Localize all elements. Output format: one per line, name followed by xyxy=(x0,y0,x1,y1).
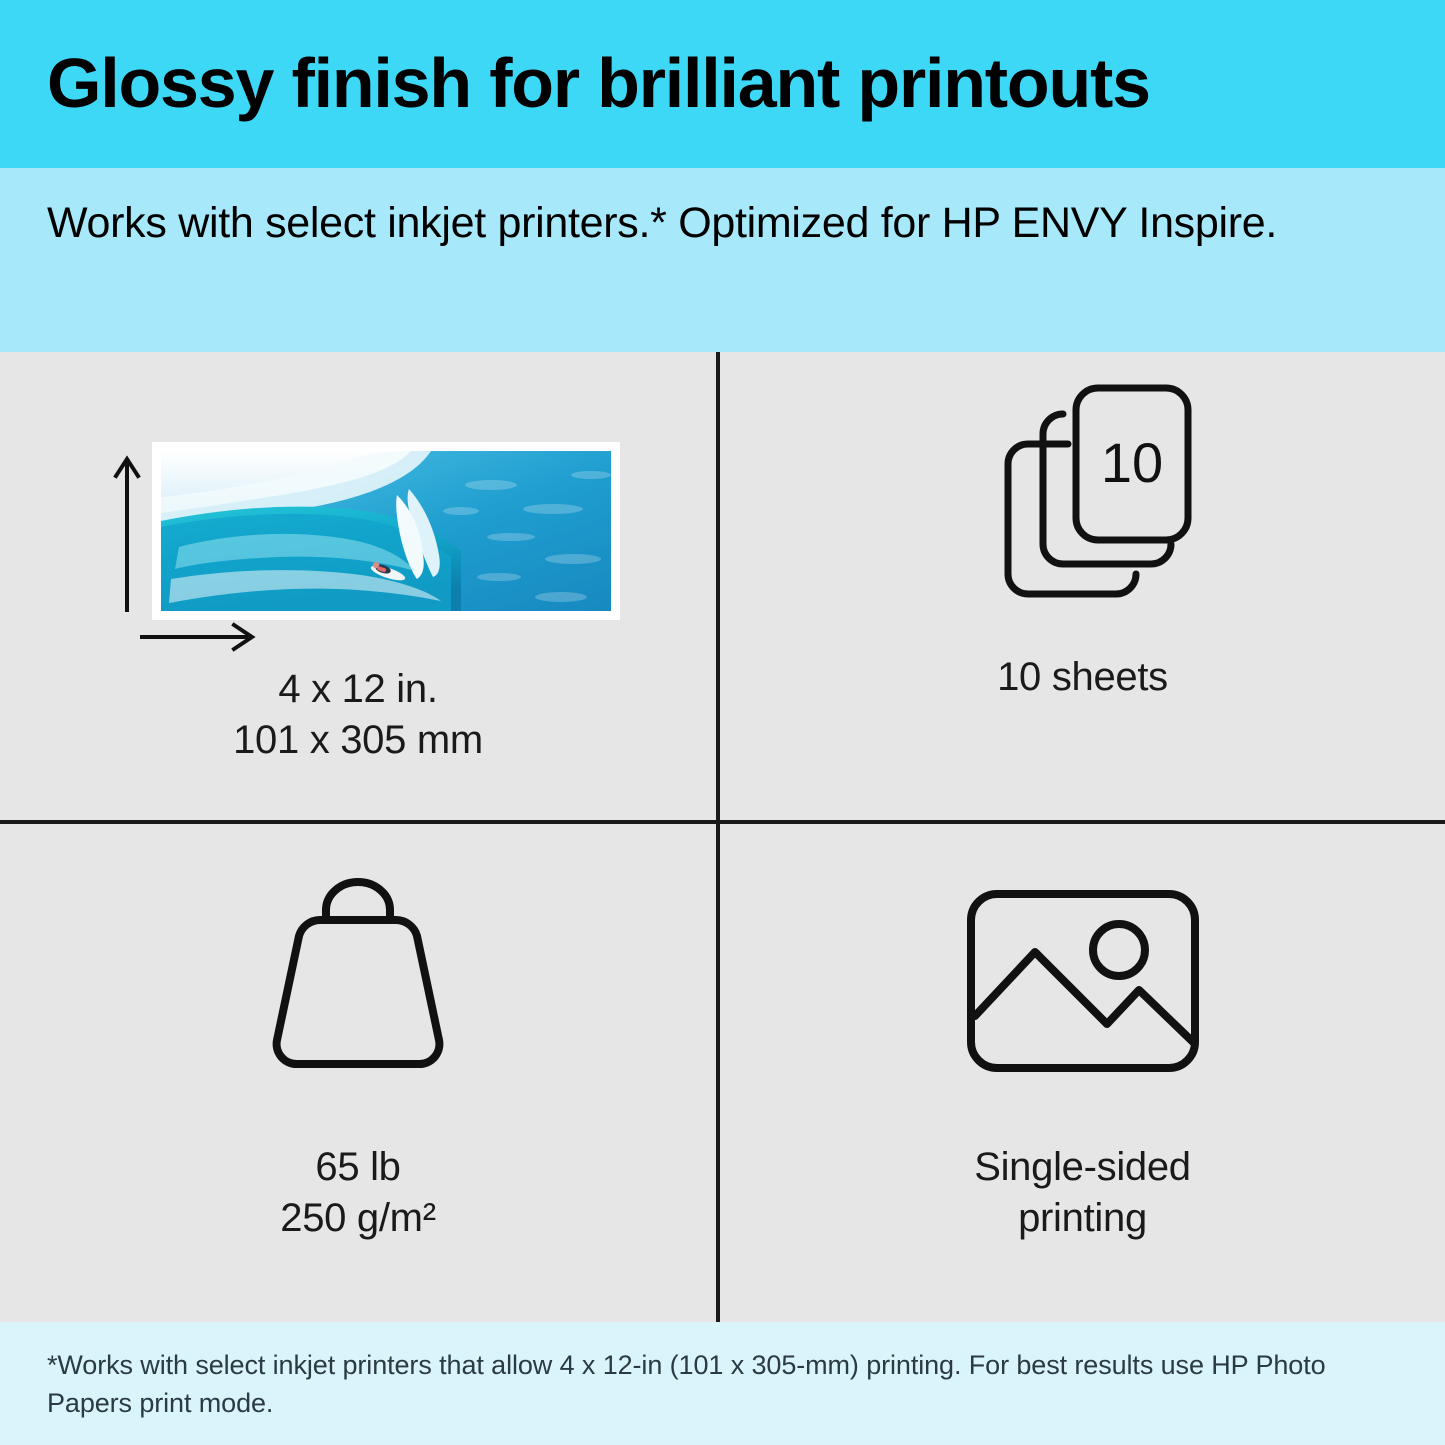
print-sides-line2: printing xyxy=(720,1193,1445,1244)
paper-size-inches: 4 x 12 in. xyxy=(0,664,716,715)
footnote-band: *Works with select inkjet printers that … xyxy=(0,1322,1445,1445)
subtitle-band: Works with select inkjet printers.* Opti… xyxy=(0,168,1445,352)
paper-sample-group xyxy=(0,352,716,652)
sheet-count-icon-wrap: 10 xyxy=(720,382,1445,632)
paper-size-caption: 4 x 12 in. 101 x 305 mm xyxy=(0,664,716,766)
height-arrow-icon xyxy=(112,452,142,612)
paper-weight-caption: 65 lb 250 g/m² xyxy=(0,1142,716,1244)
feature-grid: 4 x 12 in. 101 x 305 mm 10 10 sheets xyxy=(0,352,1445,1322)
weight-icon xyxy=(248,876,468,1076)
print-sides-line1: Single-sided xyxy=(720,1142,1445,1193)
sheet-count-badge: 10 xyxy=(1100,431,1162,494)
feature-cell-paper-weight: 65 lb 250 g/m² xyxy=(0,824,716,1322)
print-sides-caption: Single-sided printing xyxy=(720,1142,1445,1244)
paper-weight-icon-wrap xyxy=(0,876,716,1076)
paper-size-mm: 101 x 305 mm xyxy=(0,715,716,766)
subtitle-text: Works with select inkjet printers.* Opti… xyxy=(47,196,1387,252)
feature-cell-sheet-count: 10 10 sheets xyxy=(720,352,1445,820)
surf-photo-art xyxy=(161,451,611,611)
print-sides-icon-wrap xyxy=(720,886,1445,1076)
paper-weight-gsm: 250 g/m² xyxy=(0,1193,716,1244)
sheet-count-label: 10 sheets xyxy=(720,652,1445,703)
picture-icon xyxy=(963,886,1203,1076)
paper-weight-lb: 65 lb xyxy=(0,1142,716,1193)
stacked-sheets-icon: 10 xyxy=(958,382,1208,632)
header-band: Glossy finish for brilliant printouts xyxy=(0,0,1445,168)
footnote-text: *Works with select inkjet printers that … xyxy=(47,1346,1387,1423)
sheet-count-caption: 10 sheets xyxy=(720,652,1445,703)
feature-cell-print-sides: Single-sided printing xyxy=(720,824,1445,1322)
product-infographic: Glossy finish for brilliant printouts Wo… xyxy=(0,0,1445,1445)
page-title: Glossy finish for brilliant printouts xyxy=(0,47,1150,121)
paper-sample-frame xyxy=(152,442,620,620)
width-arrow-icon xyxy=(140,620,260,654)
feature-cell-paper-size: 4 x 12 in. 101 x 305 mm xyxy=(0,352,716,820)
surf-photo xyxy=(161,451,611,611)
